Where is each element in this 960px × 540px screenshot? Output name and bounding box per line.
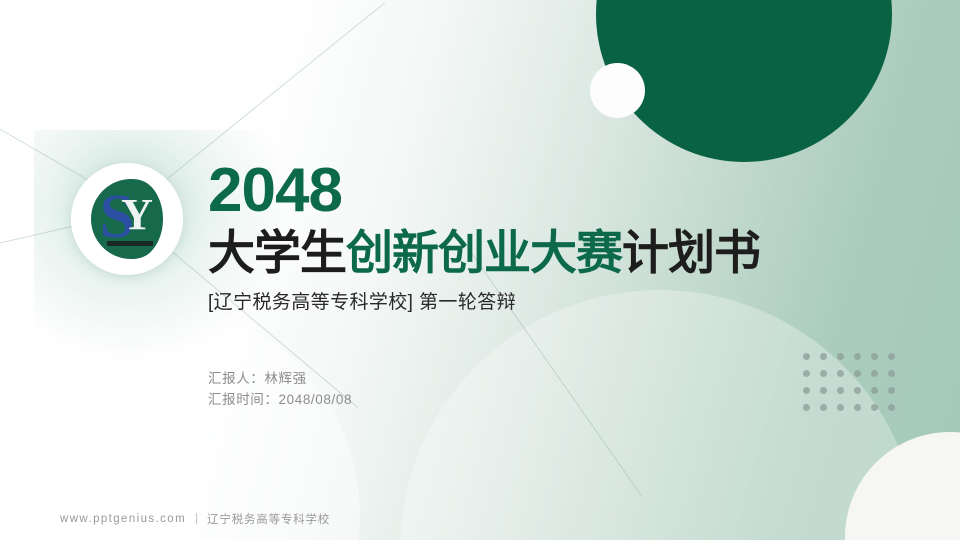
school-logo: S Y [71,163,183,275]
svg-text:Y: Y [121,190,153,239]
white-circle-decoration [590,63,645,118]
pale-arc-circle-right [400,290,920,540]
headline-lead: 大学生 [208,226,346,279]
green-circle-decoration [596,0,892,162]
presentation-title-slide: S Y 2048 大学生创新创业大赛计划书 [辽宁税务高等专科学校] 第一轮答辩… [0,0,960,540]
footer: www.pptgenius.com | 辽宁税务高等专科学校 [60,511,330,527]
headline-tail: 计划书 [622,226,760,279]
year-title: 2048 [208,158,848,224]
page-title: 大学生创新创业大赛计划书 [208,224,848,282]
pale-arc-circle-left [0,300,360,540]
headline-accent: 创新创业大赛 [346,226,622,279]
presentation-meta: 汇报人：林辉强 汇报时间：2048/08/08 [208,368,352,410]
date-line: 汇报时间：2048/08/08 [208,389,352,410]
footer-organization: 辽宁税务高等专科学校 [207,511,330,527]
presenter-line: 汇报人：林辉强 [208,368,352,389]
dot-grid-decoration [803,353,905,421]
footer-separator: | [195,513,198,525]
title-content: 2048 大学生创新创业大赛计划书 [辽宁税务高等专科学校] 第一轮答辩 [208,158,848,316]
white-circle-bottom-right [845,432,960,540]
footer-site: www.pptgenius.com [60,513,186,525]
subtitle: [辽宁税务高等专科学校] 第一轮答辩 [208,290,848,316]
